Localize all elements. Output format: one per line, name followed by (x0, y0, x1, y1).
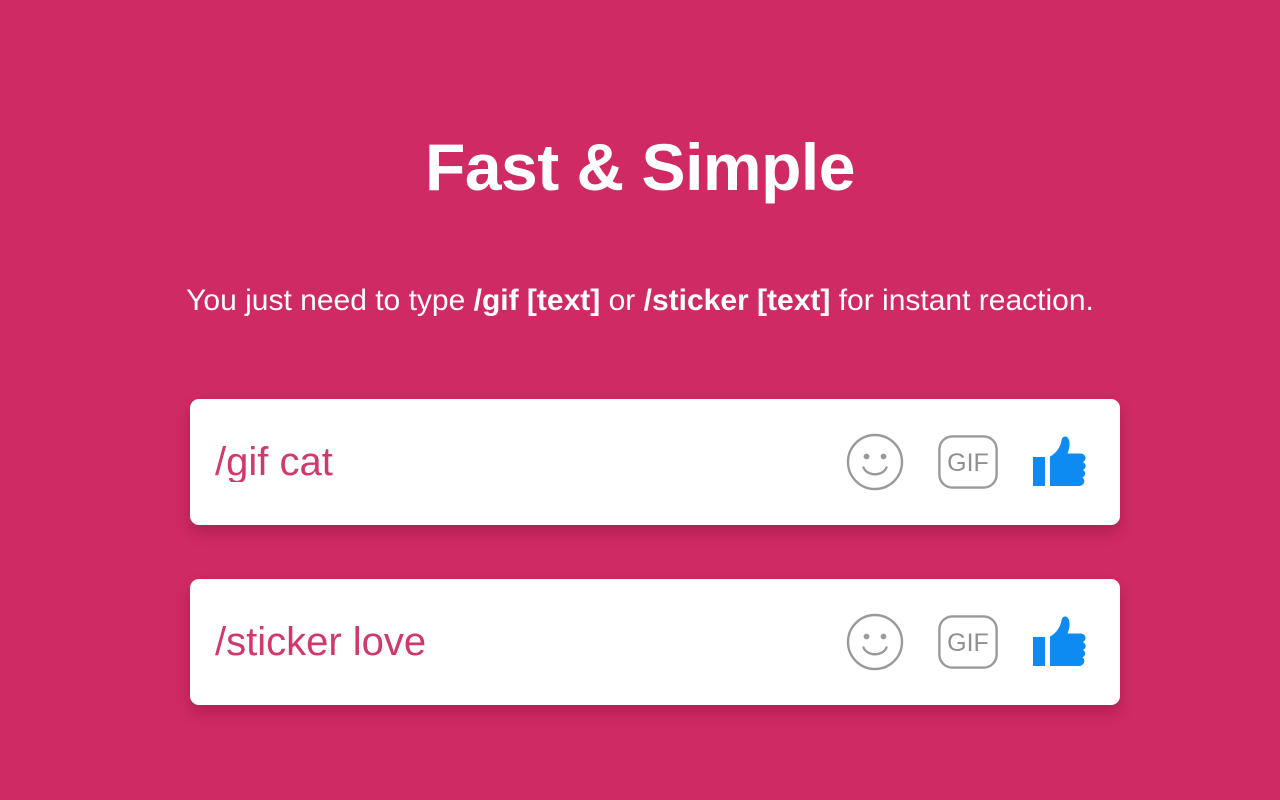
message-composer-card[interactable]: /gif cat GIF (190, 399, 1120, 525)
emoji-icon[interactable] (846, 613, 904, 671)
message-composer-card[interactable]: /sticker love GIF (190, 579, 1120, 705)
subtitle-text-part3: for instant reaction. (830, 284, 1093, 317)
gif-icon-label: GIF (947, 449, 989, 477)
subtitle-command-sticker: /sticker [text] (644, 284, 831, 317)
gif-icon[interactable]: GIF (938, 435, 998, 489)
composer-actions: GIF (846, 433, 1096, 491)
gif-icon[interactable]: GIF (938, 615, 998, 669)
subtitle-text-part2: or (600, 284, 643, 317)
subtitle-text-part1: You just need to type (186, 284, 473, 317)
thumbs-up-icon[interactable] (1032, 614, 1090, 670)
gif-icon-label: GIF (947, 629, 989, 657)
subtitle-command-gif: /gif [text] (474, 284, 601, 317)
composer-actions: GIF (846, 613, 1096, 671)
message-input[interactable]: /gif cat (215, 442, 846, 482)
page-root: Fast & Simple You just need to type /gif… (0, 0, 1280, 800)
thumbs-up-icon[interactable] (1032, 434, 1090, 490)
page-subtitle: You just need to type /gif [text] or /st… (0, 281, 1280, 320)
message-input[interactable]: /sticker love (215, 622, 846, 662)
emoji-icon[interactable] (846, 433, 904, 491)
page-title: Fast & Simple (0, 132, 1280, 203)
